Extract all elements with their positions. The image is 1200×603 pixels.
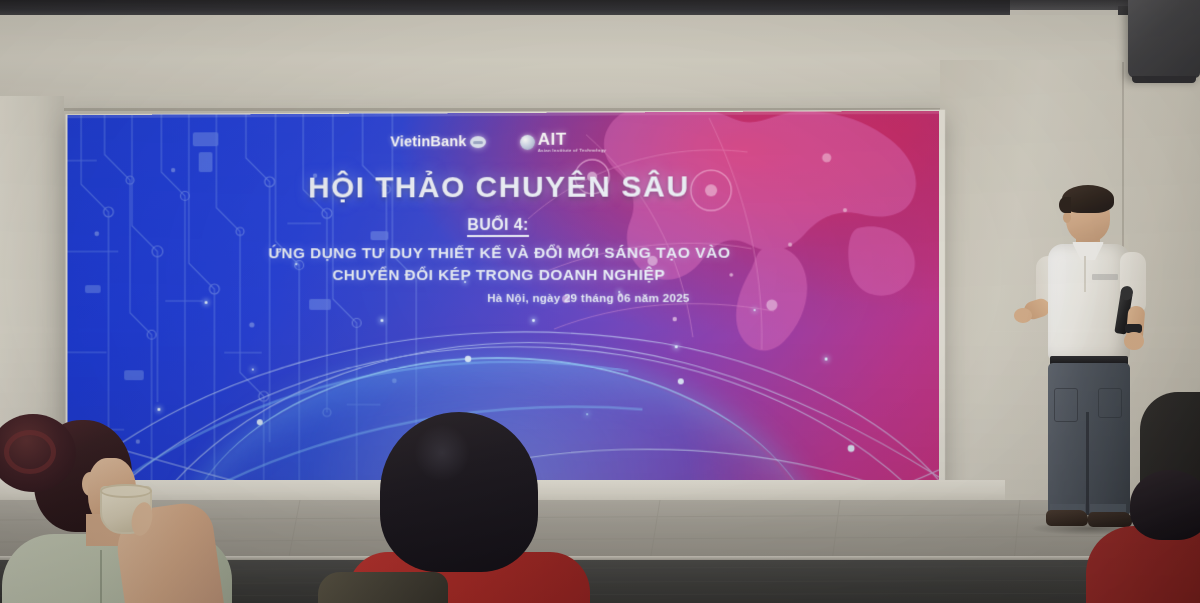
presenter-pocket-left — [1054, 388, 1078, 422]
vietinbank-logo-text: VietinBank — [390, 134, 466, 150]
ceiling-strip — [0, 0, 1010, 16]
presenter-shirt — [1048, 244, 1130, 360]
presenter-cuff-right — [1090, 504, 1126, 512]
audience-1-bun-detail — [4, 430, 56, 474]
ait-logo-text: AIT — [538, 131, 567, 148]
slide-logo-row: VietinBank AIT Asian Institute of Techno… — [67, 129, 938, 155]
presenter-ear — [1063, 212, 1071, 223]
audience-member-1 — [0, 410, 312, 603]
presenter-pocket-right — [1098, 388, 1122, 418]
presenter-left-hand — [1014, 308, 1032, 323]
slide-session-label: BUỔI 4: — [67, 216, 938, 236]
audience-2-bag — [318, 572, 448, 603]
slide-session-text: BUỔI 4: — [467, 217, 528, 237]
presenter-hair — [1062, 185, 1114, 213]
presenter-placket — [1084, 256, 1086, 292]
audience-member-3 — [1086, 512, 1200, 603]
ait-globe-icon — [520, 135, 535, 150]
slide-subtitle-line1: ỨNG DỤNG TƯ DUY THIẾT KẾ VÀ ĐỔI MỚI SÁNG… — [67, 242, 938, 265]
presenter-chest-logo — [1092, 274, 1118, 280]
audience-2-hair-sheen — [414, 424, 470, 482]
audience-1-seam — [100, 550, 102, 603]
presenter-trousers — [1048, 363, 1130, 515]
audience-member-2 — [352, 412, 582, 603]
audience-3-head — [1130, 470, 1200, 540]
slide-date: Hà Nội, ngày 29 tháng 06 năm 2025 — [67, 293, 938, 305]
vietinbank-logo: VietinBank — [390, 134, 485, 150]
ait-logo-subtitle: Asian Institute of Technology — [538, 149, 607, 154]
ceiling-speaker-icon — [1128, 0, 1200, 78]
cup-rim — [100, 484, 152, 498]
slide-subtitle-line2: CHUYỂN ĐỔI KÉP TRONG DOANH NGHIỆP — [67, 265, 938, 288]
slide-subtitle: ỨNG DỤNG TƯ DUY THIẾT KẾ VÀ ĐỔI MỚI SÁNG… — [67, 242, 938, 287]
presenter-trouser-seam — [1086, 412, 1089, 515]
slide-title: HỘI THẢO CHUYÊN SÂU — [67, 169, 938, 206]
ait-logo: AIT Asian Institute of Technology — [520, 131, 607, 154]
vietinbank-logo-icon — [470, 136, 486, 148]
presenter-shoe-left — [1046, 510, 1088, 526]
presenter-right-hand — [1124, 332, 1144, 350]
seminar-photo-scene: VietinBank AIT Asian Institute of Techno… — [0, 0, 1200, 603]
